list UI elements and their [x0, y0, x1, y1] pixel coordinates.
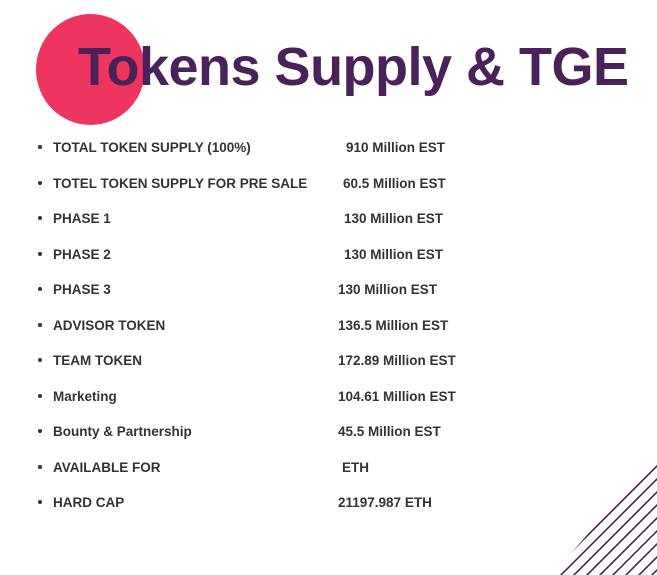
bullet-icon	[38, 216, 42, 220]
list-item-value: 45.5 Million EST	[338, 424, 441, 440]
bullet-icon	[38, 358, 42, 362]
list-item: PHASE 1130 Million EST	[0, 211, 657, 247]
list-item-value: 136.5 Million EST	[338, 318, 448, 334]
list-item: PHASE 2130 Million EST	[0, 247, 657, 283]
list-item: Marketing104.61 Million EST	[0, 389, 657, 425]
token-supply-list: TOTAL TOKEN SUPPLY (100%)910 Million EST…	[0, 140, 657, 531]
list-item-value: 172.89 Million EST	[338, 353, 456, 369]
list-item: TOTEL TOKEN SUPPLY FOR PRE SALE60.5 Mill…	[0, 176, 657, 212]
list-item-value: 130 Million EST	[344, 247, 443, 263]
page-title: Tokens Supply & TGE	[78, 38, 629, 96]
list-item-label: PHASE 2	[53, 247, 111, 263]
list-item-label: PHASE 1	[53, 211, 111, 227]
list-item-label: PHASE 3	[53, 282, 111, 298]
list-item: PHASE 3130 Million EST	[0, 282, 657, 318]
list-item-label: ADVISOR TOKEN	[53, 318, 165, 334]
list-item-value: 130 Million EST	[338, 282, 437, 298]
list-item: Bounty & Partnership45.5 Million EST	[0, 424, 657, 460]
list-item-label: TEAM TOKEN	[53, 353, 142, 369]
list-item-label: AVAILABLE FOR	[53, 460, 161, 476]
bullet-icon	[38, 287, 42, 291]
slide-header: Tokens Supply & TGE	[0, 0, 657, 135]
list-item-value: 104.61 Million EST	[338, 389, 456, 405]
bullet-icon	[38, 252, 42, 256]
list-item-label: HARD CAP	[53, 495, 124, 511]
bullet-icon	[38, 145, 42, 149]
list-item: AVAILABLE FORETH	[0, 460, 657, 496]
bullet-icon	[38, 394, 42, 398]
list-item-value: 60.5 Million EST	[343, 176, 446, 192]
list-item-value: ETH	[342, 460, 369, 476]
bullet-icon	[38, 465, 42, 469]
list-item-value: 910 Million EST	[346, 140, 445, 156]
bullet-icon	[38, 429, 42, 433]
bullet-icon	[38, 500, 42, 504]
list-item-label: Bounty & Partnership	[53, 424, 192, 440]
list-item: TEAM TOKEN172.89 Million EST	[0, 353, 657, 389]
list-item: TOTAL TOKEN SUPPLY (100%)910 Million EST	[0, 140, 657, 176]
list-item-label: TOTAL TOKEN SUPPLY (100%)	[53, 140, 251, 156]
list-item-value: 130 Million EST	[344, 211, 443, 227]
bullet-icon	[38, 181, 42, 185]
bullet-icon	[38, 323, 42, 327]
list-item-label: TOTEL TOKEN SUPPLY FOR PRE SALE	[53, 176, 307, 192]
list-item: HARD CAP21197.987 ETH	[0, 495, 657, 531]
list-item: ADVISOR TOKEN136.5 Million EST	[0, 318, 657, 354]
list-item-label: Marketing	[53, 389, 117, 405]
list-item-value: 21197.987 ETH	[338, 495, 432, 511]
